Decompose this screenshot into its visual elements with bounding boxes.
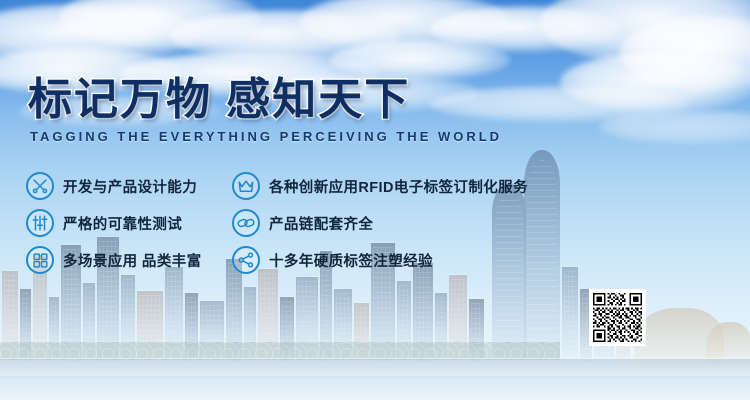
- feature-item-development: 开发与产品设计能力: [26, 168, 202, 204]
- waterfront: [0, 376, 750, 400]
- feature-label: 开发与产品设计能力: [63, 176, 197, 197]
- feature-label: 各种创新应用RFID电子标签订制化服务: [269, 176, 528, 197]
- feature-item-applications: 多场景应用 品类丰富: [26, 242, 202, 278]
- feature-item-rfid-custom: 各种创新应用RFID电子标签订制化服务: [232, 168, 528, 204]
- feature-label: 产品链配套齐全: [269, 213, 373, 234]
- promo-banner: 标记万物 感知天下 TAGGING THE EVERYTHING PERCEIV…: [0, 0, 750, 400]
- share-icon: [232, 246, 260, 274]
- feature-item-experience: 十多年硬质标签注塑经验: [232, 242, 528, 278]
- sliders-icon: [26, 209, 54, 237]
- feature-item-reliability: 严格的可靠性测试: [26, 205, 202, 241]
- page-subtitle: TAGGING THE EVERYTHING PERCEIVING THE WO…: [30, 129, 502, 144]
- page-title: 标记万物 感知天下: [28, 75, 410, 125]
- feature-label: 十多年硬质标签注塑经验: [269, 250, 433, 271]
- feature-label: 多场景应用 品类丰富: [63, 250, 202, 271]
- qr-code-image: [591, 291, 644, 344]
- link-icon: [232, 209, 260, 237]
- crown-icon: [232, 172, 260, 200]
- tools-icon: [26, 172, 54, 200]
- qr-code[interactable]: [589, 289, 646, 346]
- feature-label: 严格的可靠性测试: [63, 213, 182, 234]
- promenade: [0, 358, 750, 378]
- feature-item-supply-chain: 产品链配套齐全: [232, 205, 528, 241]
- feature-column-left: 开发与产品设计能力 严格的可靠性测试: [26, 168, 202, 279]
- feature-column-right: 各种创新应用RFID电子标签订制化服务 产品链配套齐全: [232, 168, 528, 279]
- grid-icon: [26, 246, 54, 274]
